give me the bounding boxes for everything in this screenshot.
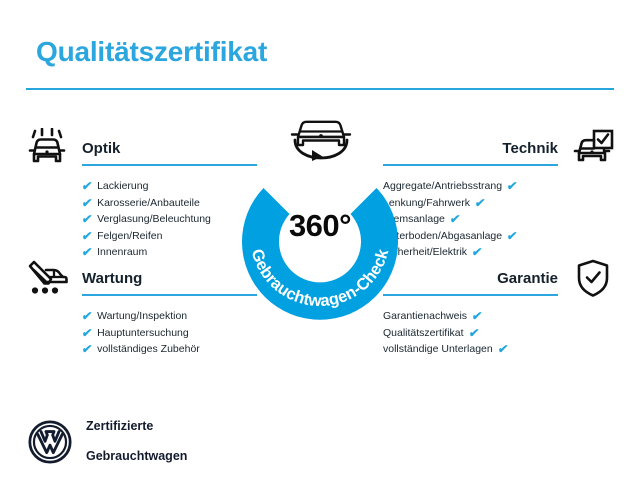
pen-car-service-icon (22, 256, 72, 300)
footer-text: Zertifizierte Gebrauchtwagen (86, 404, 187, 479)
check-icon: ✔ (81, 310, 93, 322)
section-header: Garantie (383, 256, 618, 302)
footer-line-2: Gebrauchtwagen (86, 449, 187, 464)
section-header: Technik (383, 126, 618, 172)
check-icon: ✔ (474, 197, 486, 209)
check-icon: ✔ (81, 343, 93, 355)
section-title: Technik (502, 140, 558, 157)
check-icon: ✔ (468, 327, 480, 339)
footer-line-1: Zertifizierte (86, 419, 187, 434)
badge-center-label: 360° (224, 208, 416, 244)
car-checkbox-icon (568, 126, 618, 170)
car-shine-icon (22, 126, 72, 170)
checklist-garantie: ✔Garantienachweis ✔Qualitätszertifikat ✔… (383, 308, 618, 358)
list-item-label: Karosserie/Anbauteile (97, 195, 200, 212)
list-item-label: Wartung/Inspektion (97, 308, 187, 325)
check-icon: ✔ (449, 213, 461, 225)
list-item-label: Verglasung/Beleuchtung (97, 211, 211, 228)
list-item-label: Hauptuntersuchung (97, 325, 189, 342)
checklist-wartung: ✔Wartung/Inspektion ✔Hauptuntersuchung ✔… (22, 308, 257, 358)
check-icon: ✔ (81, 327, 93, 339)
footer-brand: Zertifizierte Gebrauchtwagen (28, 404, 187, 479)
list-item-label: vollständiges Zubehör (97, 341, 200, 358)
list-item-label: Felgen/Reifen (97, 228, 162, 245)
list-item-label: vollständige Unterlagen (383, 341, 493, 358)
title-divider (26, 88, 614, 90)
section-wartung: Wartung ✔Wartung/Inspektion ✔Hauptunters… (22, 256, 257, 358)
check-icon: ✔ (506, 180, 518, 192)
car-rotate-icon (282, 114, 360, 168)
section-title: Wartung (82, 270, 142, 287)
volkswagen-logo (28, 420, 72, 464)
checklist-optik: ✔Lackierung ✔Karosserie/Anbauteile ✔Verg… (22, 178, 257, 261)
section-garantie: Garantie ✔Garantienachweis ✔Qualitätszer… (383, 256, 618, 358)
list-item: ✔vollständiges Zubehör (82, 341, 257, 358)
list-item: ✔Hauptuntersuchung (82, 325, 257, 342)
list-item: ✔vollständige Unterlagen (383, 341, 558, 358)
list-item-label: Lackierung (97, 178, 148, 195)
section-technik: Technik ✔Aggregate/Antriebsstrang ✔Lenku… (383, 126, 618, 261)
shield-check-icon (568, 256, 618, 300)
section-header: Optik (22, 126, 257, 172)
checklist-technik: ✔Aggregate/Antriebsstrang ✔Lenkung/Fahrw… (383, 178, 618, 261)
check-icon: ✔ (506, 230, 518, 242)
check-icon: ✔ (81, 230, 93, 242)
section-title: Garantie (497, 270, 558, 287)
list-item: ✔Qualitätszertifikat (383, 325, 558, 342)
check-icon: ✔ (497, 343, 509, 355)
section-title: Optik (82, 140, 120, 157)
check-icon: ✔ (471, 310, 483, 322)
section-header: Wartung (22, 256, 257, 302)
page-title: Qualitätszertifikat (36, 36, 267, 68)
section-optik: Optik ✔Lackierung ✔Karosserie/Anbauteile… (22, 126, 257, 261)
list-item-label: Qualitätszertifikat (383, 325, 464, 342)
check-icon: ✔ (81, 213, 93, 225)
badge-360-gebrauchtwagen-check: Gebrauchtwagen-Check 360° (224, 152, 416, 320)
certificate-page: Qualitätszertifikat (0, 0, 640, 480)
check-icon: ✔ (81, 197, 93, 209)
check-icon: ✔ (81, 180, 93, 192)
